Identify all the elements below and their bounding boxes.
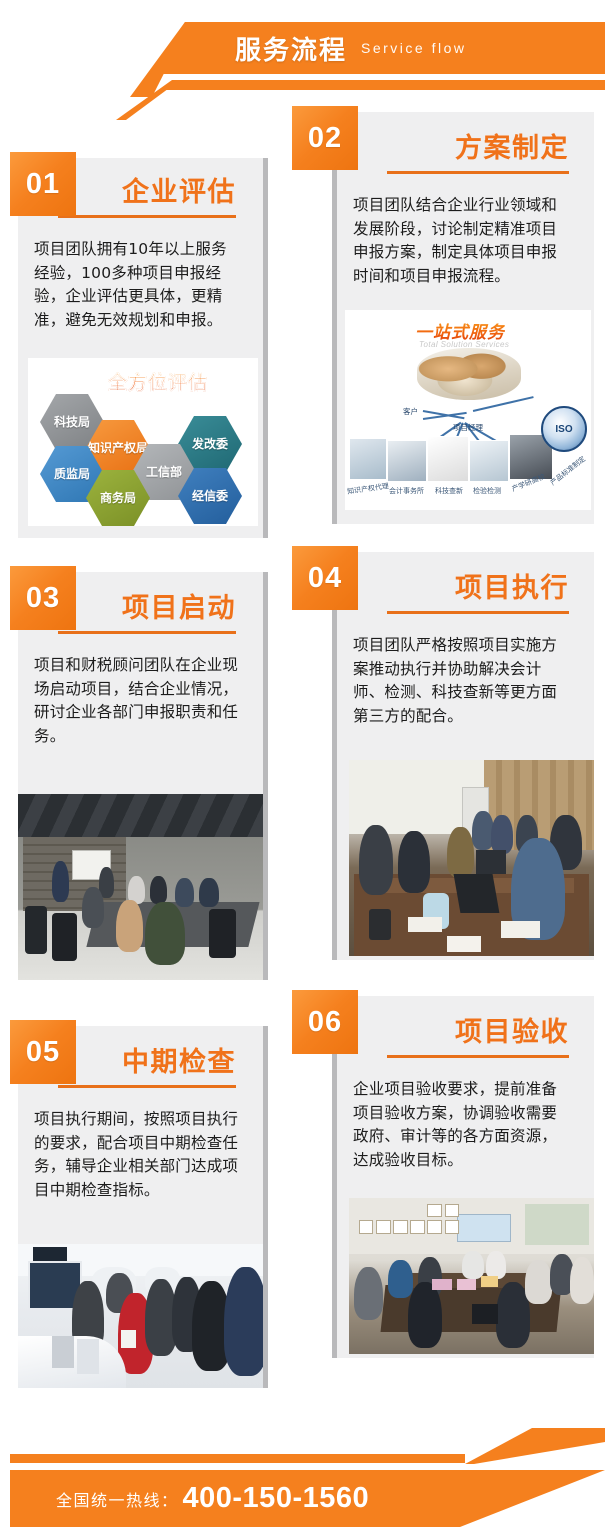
card-01-title-rule bbox=[58, 215, 236, 218]
footer-hotline-label: 全国统一热线： bbox=[56, 1487, 179, 1511]
hexagon-diagram-title: 全方位评估 bbox=[108, 368, 208, 395]
card-03-photo bbox=[18, 794, 263, 980]
photo-scene-acceptance-meeting bbox=[349, 1198, 594, 1354]
card-01-hexagon-diagram: 全方位评估 科技局 知识产权局 发改委 质监局 工信部 商务局 经信委 bbox=[28, 358, 258, 526]
card-05-title-rule bbox=[58, 1085, 236, 1088]
card-03-description: 项目和财税顾问团队在企业现场启动项目，结合企业情况，研讨企业各部门申报职责和任务… bbox=[34, 654, 240, 748]
card-04-description: 项目团队严格按照项目实施方案推动执行并协助解决会计师、检测、科技查新等更方面第三… bbox=[353, 634, 571, 728]
photo-scene-showroom-visit bbox=[18, 1244, 263, 1388]
card-02-number-badge: 02 bbox=[292, 106, 358, 170]
card-04-number-badge: 04 bbox=[292, 546, 358, 610]
card-04-photo bbox=[349, 760, 594, 956]
card-06-title-rule bbox=[387, 1055, 569, 1058]
hexagon-node-label: 发改委 bbox=[192, 438, 228, 451]
hexagon-node-label: 工信部 bbox=[146, 466, 182, 479]
card-06-panel: 项目验收 企业项目验收要求，提前准备项目验收方案，协调验收需要政府、审计等的各方… bbox=[332, 996, 594, 1358]
one-stop-label-customer: 客户 bbox=[403, 406, 418, 417]
card-06-number-badge: 06 bbox=[292, 990, 358, 1054]
one-stop-label-manager: 项目经理 bbox=[453, 422, 483, 433]
header-title-group: 服务流程 Service flow bbox=[150, 22, 605, 74]
card-02-panel: 方案制定 项目团队结合企业行业领域和发展阶段，讨论制定精准项目申报方案，制定具体… bbox=[332, 112, 594, 524]
card-01-number-badge: 01 bbox=[10, 152, 76, 216]
one-stop-label-ip-agency: 知识产权代理 bbox=[347, 481, 390, 497]
one-stop-iso-seal bbox=[541, 406, 587, 452]
one-stop-tile-papers bbox=[427, 436, 469, 482]
card-05-number-badge: 05 bbox=[10, 1020, 76, 1084]
card-03-panel: 项目启动 项目和财税顾问团队在企业现场启动项目，结合企业情况，研讨企业各部门申报… bbox=[18, 572, 268, 980]
page-footer: 全国统一热线： 400-150-1560 bbox=[0, 1418, 605, 1538]
header-underline bbox=[162, 80, 605, 90]
card-06-title: 项目验收 bbox=[351, 1010, 569, 1049]
card-02-title: 方案制定 bbox=[351, 126, 569, 165]
one-stop-label-inspection: 检验检测 bbox=[473, 486, 501, 496]
hexagon-node-label: 经信委 bbox=[192, 490, 228, 503]
one-stop-tile-books bbox=[349, 438, 387, 480]
hexagon-node-label: 知识产权局 bbox=[88, 442, 148, 455]
card-06-photo bbox=[349, 1198, 594, 1354]
one-stop-tile-office bbox=[387, 440, 427, 482]
card-06-description: 企业项目验收要求，提前准备项目验收方案，协调验收需要政府、审计等的各方面资源，达… bbox=[353, 1078, 571, 1172]
card-01-description: 项目团队拥有10年以上服务经验，100多种项目申报经验，企业评估更具体，更精准，… bbox=[34, 238, 240, 332]
one-stop-hero-photo bbox=[417, 348, 521, 400]
card-03-number-badge: 03 bbox=[10, 566, 76, 630]
card-03-title-rule bbox=[58, 631, 236, 634]
footer-topline bbox=[10, 1454, 465, 1463]
card-04-title-rule bbox=[387, 611, 569, 614]
footer-hotline-group: 全国统一热线： 400-150-1560 bbox=[56, 1470, 369, 1527]
card-02-title-rule bbox=[387, 171, 569, 174]
footer-hotline-number: 400-150-1560 bbox=[183, 1482, 370, 1515]
hexagon-node-label: 科技局 bbox=[54, 416, 90, 429]
hexagon-node-label: 商务局 bbox=[100, 492, 136, 505]
one-stop-label-accounting: 会计事务所 bbox=[389, 486, 424, 496]
one-stop-tile-lab bbox=[469, 440, 509, 482]
card-02-description: 项目团队结合企业行业领域和发展阶段，讨论制定精准项目申报方案，制定具体项目申报时… bbox=[353, 194, 571, 288]
card-04-title: 项目执行 bbox=[351, 566, 569, 605]
page-title: 服务流程 bbox=[235, 30, 347, 67]
page-header: 服务流程 Service flow bbox=[0, 0, 605, 112]
one-stop-label-standards: 产品标准制定 bbox=[548, 454, 587, 488]
photo-scene-team-working bbox=[349, 760, 594, 956]
card-05-photo bbox=[18, 1244, 263, 1388]
hexagon-node-label: 质监局 bbox=[54, 468, 90, 481]
card-02-one-stop-diagram: 一站式服务 Total Solution Services 客户 项目经理 知识… bbox=[345, 310, 591, 510]
photo-scene-meeting-room bbox=[18, 794, 263, 980]
page-subtitle: Service flow bbox=[361, 40, 466, 56]
card-05-description: 项目执行期间，按照项目执行的要求，配合项目中期检查任务，辅导企业相关部门达成项目… bbox=[34, 1108, 240, 1202]
one-stop-label-tech-search: 科技查新 bbox=[435, 486, 463, 496]
card-04-panel: 项目执行 项目团队严格按照项目实施方案推动执行并协助解决会计师、检测、科技查新等… bbox=[332, 552, 594, 960]
